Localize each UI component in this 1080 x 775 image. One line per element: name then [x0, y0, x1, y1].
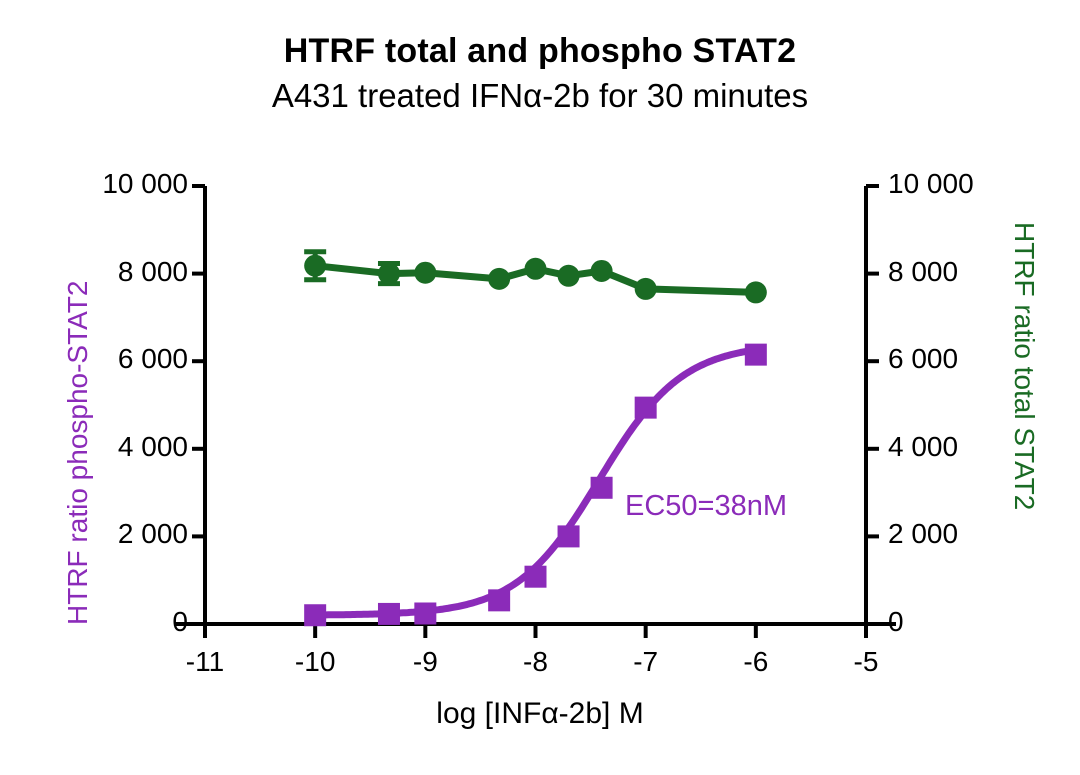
phospho-stat2-marker: [525, 566, 547, 588]
total-stat2-marker: [745, 281, 767, 303]
y-axis-right-tick-label: 6 000: [888, 343, 1048, 375]
y-axis-right-tick-label: 2 000: [888, 518, 1048, 550]
phospho-stat2-marker: [558, 525, 580, 547]
y-axis-left-tick-label: 8 000: [10, 256, 188, 288]
phospho-stat2-marker: [745, 344, 767, 366]
chart-figure: HTRF total and phospho STAT2 A431 treate…: [0, 0, 1080, 775]
y-axis-right-tick-label: 10 000: [888, 168, 1048, 200]
phospho-stat2-marker: [378, 603, 400, 625]
y-axis-left-tick-label: 2 000: [10, 518, 188, 550]
x-axis-tick-label: -9: [375, 646, 475, 678]
x-axis-tick-label: -10: [265, 646, 365, 678]
x-axis-tick-label: -8: [486, 646, 586, 678]
y-axis-left-tick-label: 4 000: [10, 431, 188, 463]
phospho-stat2-marker: [591, 477, 613, 499]
y-axis-left-tick-label: 6 000: [10, 343, 188, 375]
total-stat2-marker: [635, 278, 657, 300]
phospho-stat2-marker: [488, 589, 510, 611]
y-axis-left-tick-label: 10 000: [10, 168, 188, 200]
total-stat2-marker: [414, 262, 436, 284]
x-axis-tick-label: -5: [816, 646, 916, 678]
x-axis-tick-label: -6: [706, 646, 806, 678]
phospho-stat2-marker: [304, 604, 326, 626]
total-stat2-marker: [591, 260, 613, 282]
total-stat2-marker: [488, 268, 510, 290]
phospho-stat2-marker: [414, 602, 436, 624]
y-axis-right-tick-label: 4 000: [888, 431, 1048, 463]
y-axis-right-tick-label: 0: [888, 606, 1048, 638]
total-stat2-marker: [378, 263, 400, 285]
total-stat2-marker: [304, 255, 326, 277]
y-axis-right-tick-label: 8 000: [888, 256, 1048, 288]
y-axis-left-tick-label: 0: [10, 606, 188, 638]
phospho-stat2-marker: [635, 397, 657, 419]
total-stat2-marker: [558, 265, 580, 287]
total-stat2-marker: [525, 258, 547, 280]
x-axis-tick-label: -7: [596, 646, 696, 678]
x-axis-tick-label: -11: [155, 646, 255, 678]
